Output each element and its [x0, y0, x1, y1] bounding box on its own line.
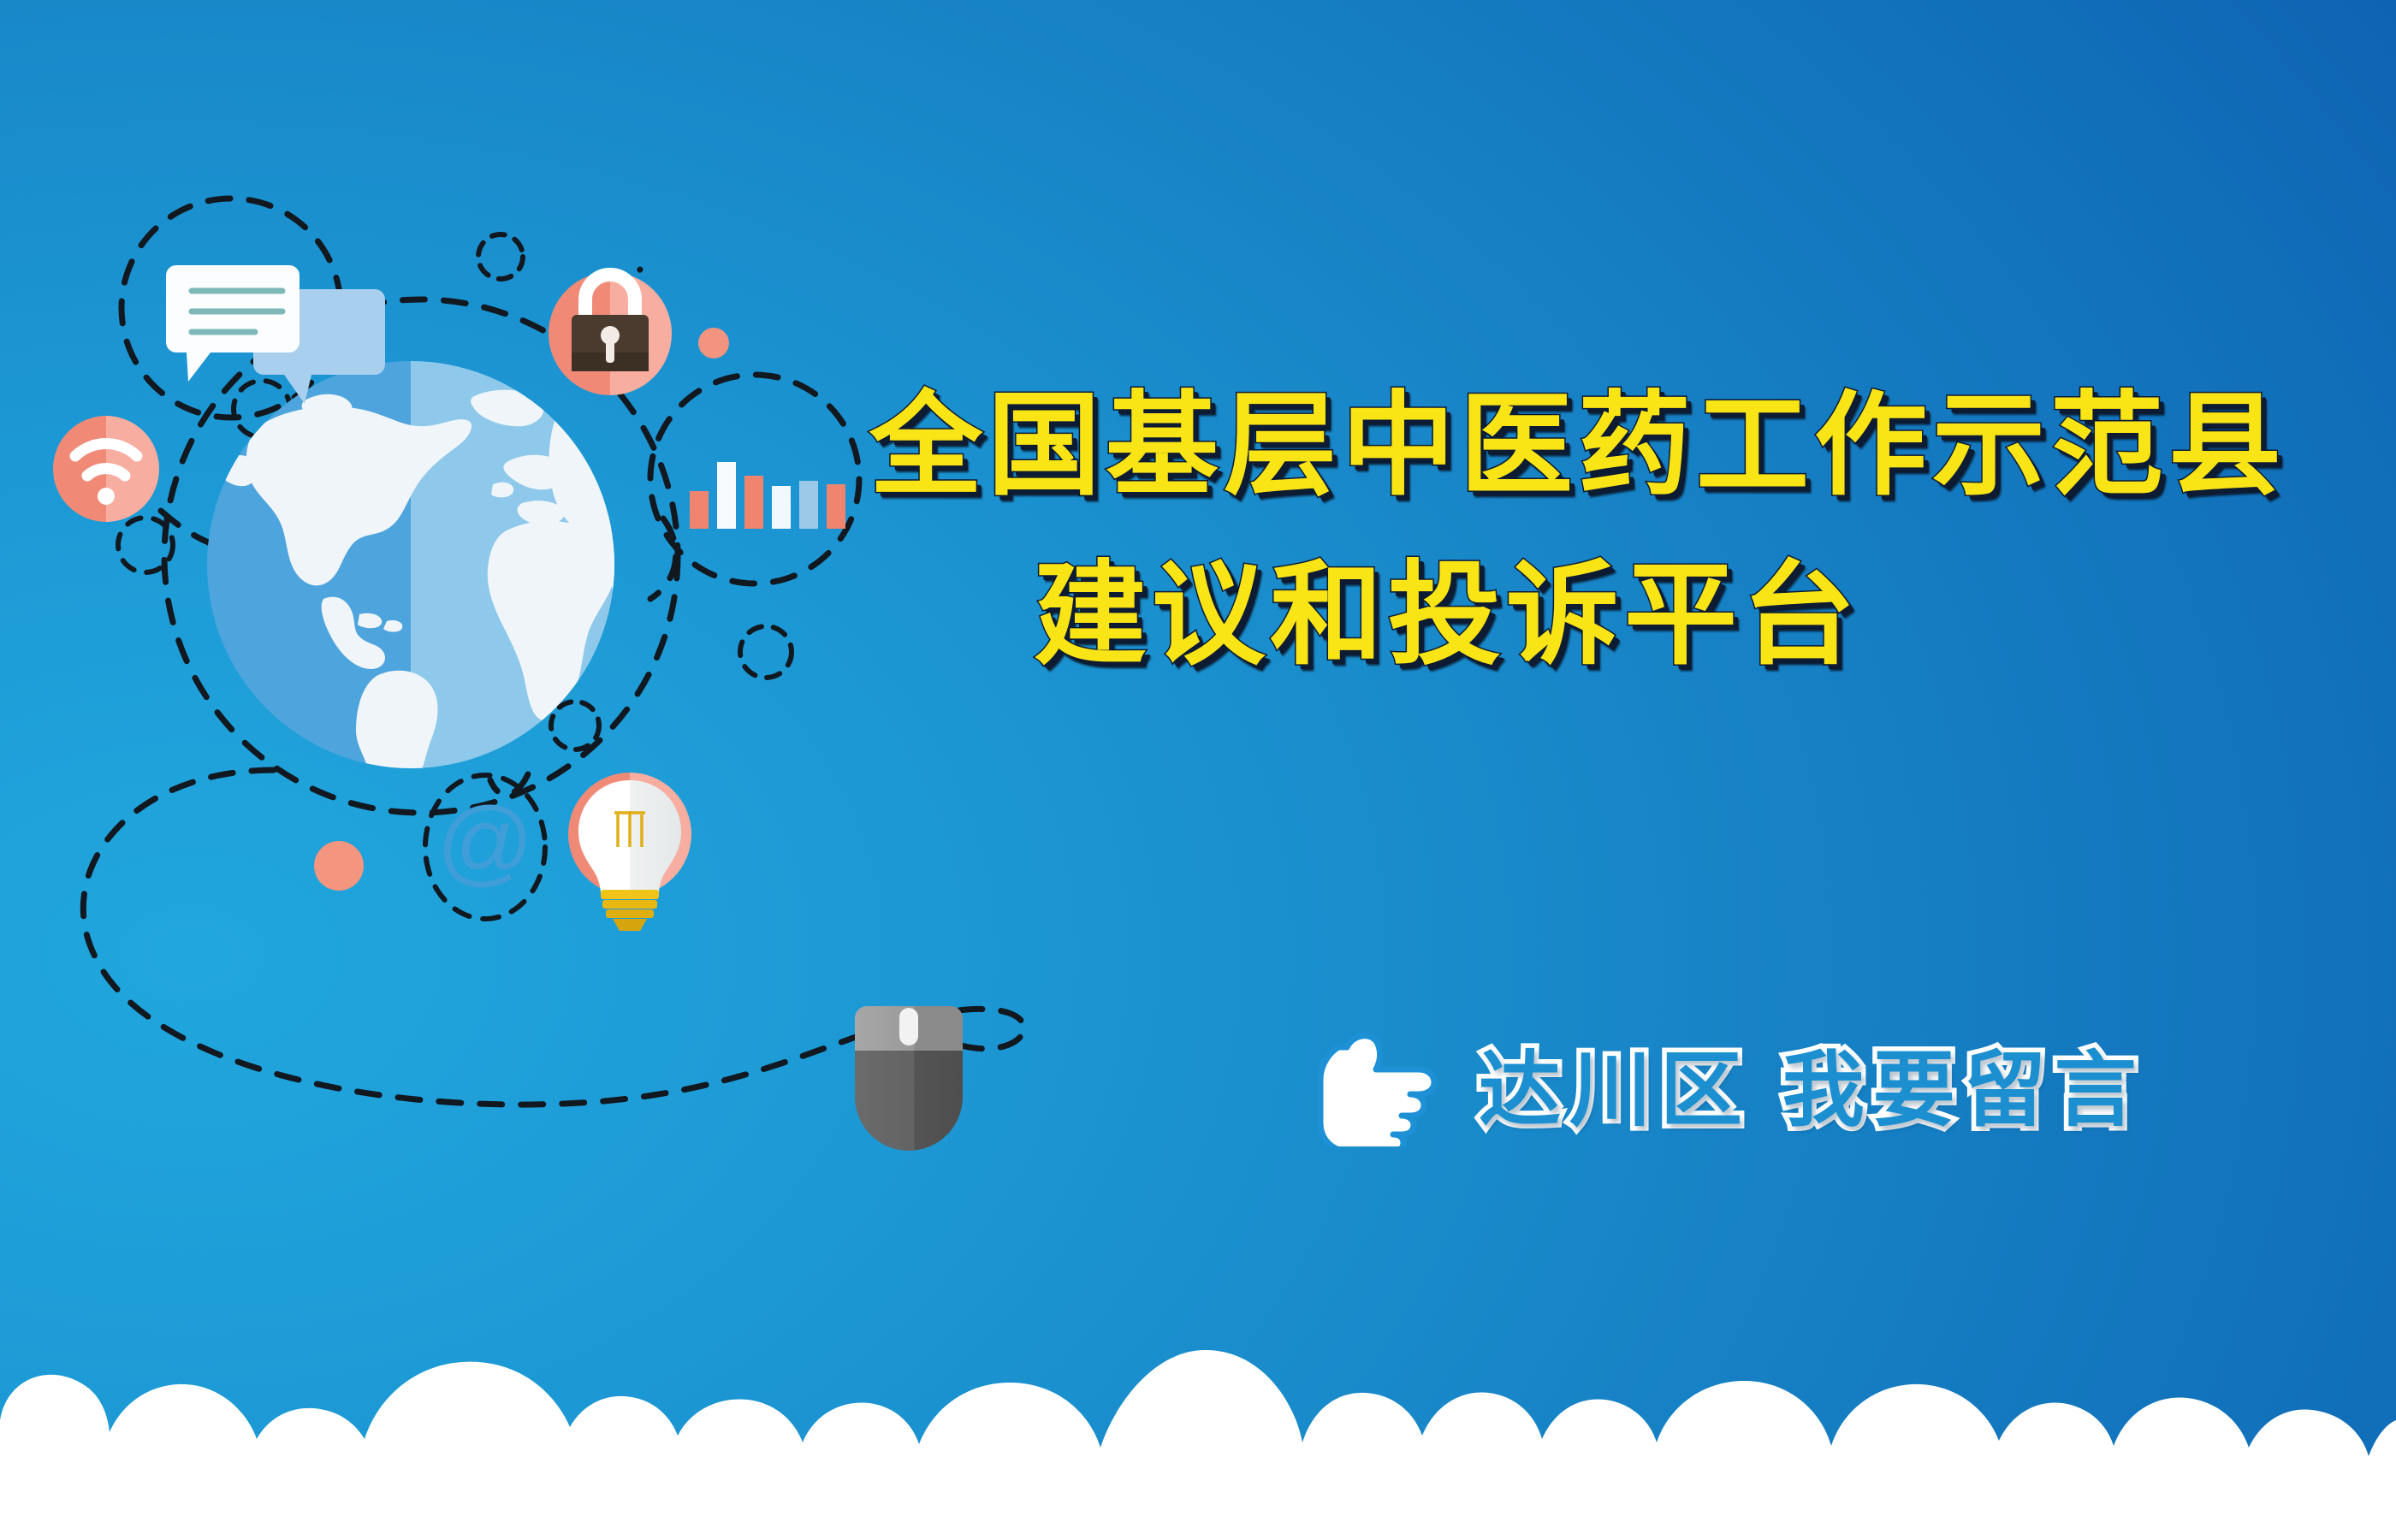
leave-message-cta[interactable]: 达川区 我要留言 [1318, 1018, 2145, 1146]
accent-dot [314, 841, 364, 891]
cloud-decoration [0, 1258, 2396, 1540]
bar-chart-icon [690, 462, 845, 529]
headline-block: 全国基层中医药工作示范县 建议和投诉平台 [847, 389, 2379, 672]
page-title-line-2: 建议和投诉平台 [1034, 559, 2379, 672]
accent-dot [698, 328, 729, 358]
computer-mouse-icon [855, 1006, 963, 1151]
promo-banner: @ 全国基层中医药工作示范县 建议和投诉平台 达川区 我要留言 [0, 0, 2396, 1540]
pointing-hand-icon [1318, 1018, 1438, 1146]
wifi-icon [53, 416, 159, 522]
at-sign-icon: @ [436, 788, 534, 895]
lock-icon [549, 272, 672, 395]
cta-label[interactable]: 达川区 我要留言 [1479, 1023, 2145, 1142]
lightbulb-icon [568, 773, 691, 931]
page-title-line-1: 全国基层中医药工作示范县 [869, 389, 2379, 502]
